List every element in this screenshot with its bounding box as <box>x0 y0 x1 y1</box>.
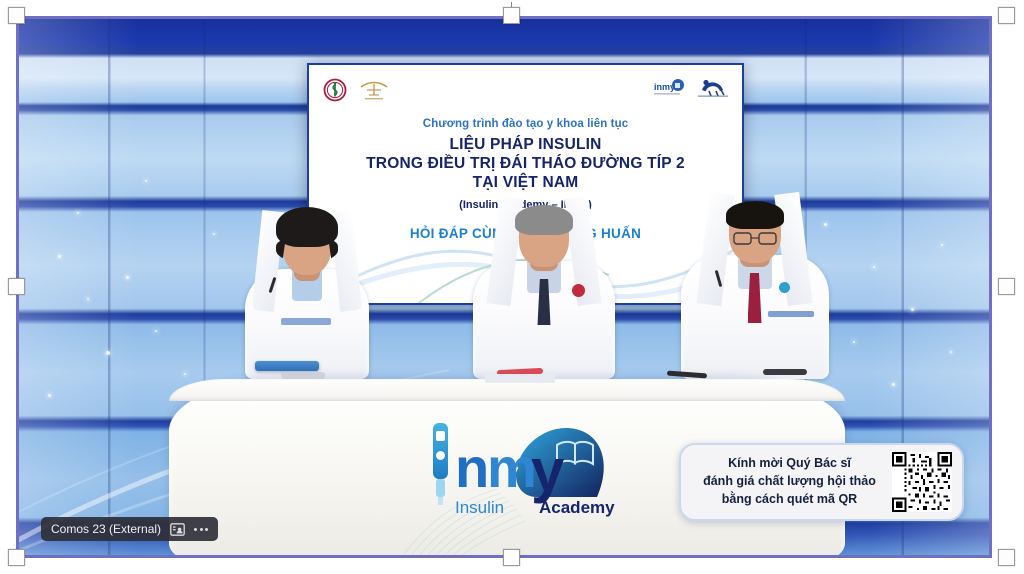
resize-handle-middle-left[interactable] <box>8 278 25 295</box>
inmy-logo-icon: inmy <box>654 77 684 99</box>
resize-handle-top-center[interactable] <box>503 7 520 24</box>
participant-name-label[interactable]: Comos 23 (External) <box>41 517 218 541</box>
share-screen-icon[interactable] <box>170 523 185 536</box>
tablet-left <box>255 361 319 371</box>
partner-logo-gold-icon <box>359 79 389 101</box>
panelist-left <box>227 211 387 379</box>
slide-title-line-3: TẠI VIỆT NAM <box>309 174 742 193</box>
resize-handle-top-left[interactable] <box>8 7 25 24</box>
qr-callout-line-1: Kính mời Quý Bác sĩ <box>687 455 892 473</box>
svg-text:inmy: inmy <box>654 82 675 92</box>
svg-text:y: y <box>531 437 565 504</box>
resize-handle-bottom-right[interactable] <box>998 549 1015 566</box>
qr-survey-callout: Kính mời Quý Bác sĩ đánh giá chất lượng … <box>679 443 964 521</box>
paper-center <box>485 374 555 383</box>
svg-text:n: n <box>455 436 489 499</box>
slide-logos-left <box>323 78 389 102</box>
panelist-right-hair <box>726 201 784 229</box>
panelist-left-coat-embroidery <box>281 318 331 325</box>
novo-nordisk-logo-icon <box>696 77 730 99</box>
logo-tagline-insulin: Insulin <box>455 498 504 517</box>
slide-title-line-1: LIỆU PHÁP INSULIN <box>309 136 742 155</box>
screenshot-canvas: inmy Chương trình đào tạo y khoa liên tụ… <box>0 0 1024 574</box>
svg-text:m: m <box>487 436 537 499</box>
panelist-right-coat-embroidery <box>768 311 814 317</box>
qr-callout-line-3: bằng cách quét mã QR <box>687 491 892 509</box>
panelist-right-glasses-icon <box>733 231 777 245</box>
ministry-of-health-emblem-icon <box>323 78 347 102</box>
resize-handle-bottom-left[interactable] <box>8 549 25 566</box>
panelist-right <box>667 193 842 379</box>
panelist-center-hair <box>515 205 573 235</box>
inmy-insulin-academy-logo: n m y Insulin Academy <box>411 401 641 519</box>
eyeglasses-on-desk <box>281 372 325 379</box>
qr-code-image[interactable] <box>892 452 952 512</box>
panelist-center-coat-badge <box>572 284 585 297</box>
more-options-icon[interactable] <box>194 528 208 531</box>
resize-handle-middle-right[interactable] <box>998 278 1015 295</box>
qr-callout-line-2: đánh giá chất lượng hội thảo <box>687 473 892 491</box>
remote-right <box>763 369 807 375</box>
panelist-center <box>459 197 629 379</box>
slide-subtitle: Chương trình đào tạo y khoa liên tục <box>309 117 742 131</box>
slide-title-line-2: TRONG ĐIỀU TRỊ ĐÁI THÁO ĐƯỜNG TÍP 2 <box>309 155 742 174</box>
resize-handle-top-right[interactable] <box>998 7 1015 24</box>
panelist-right-coat-badge <box>779 282 790 293</box>
logo-tagline-academy: Academy <box>539 498 615 517</box>
resize-handle-bottom-center[interactable] <box>503 549 520 566</box>
qr-callout-text: Kính mời Quý Bác sĩ đánh giá chất lượng … <box>681 455 892 508</box>
video-stream-frame[interactable]: inmy Chương trình đào tạo y khoa liên tụ… <box>16 16 992 558</box>
participant-name-text: Comos 23 (External) <box>51 522 161 536</box>
slide-logos-right: inmy <box>654 77 730 99</box>
